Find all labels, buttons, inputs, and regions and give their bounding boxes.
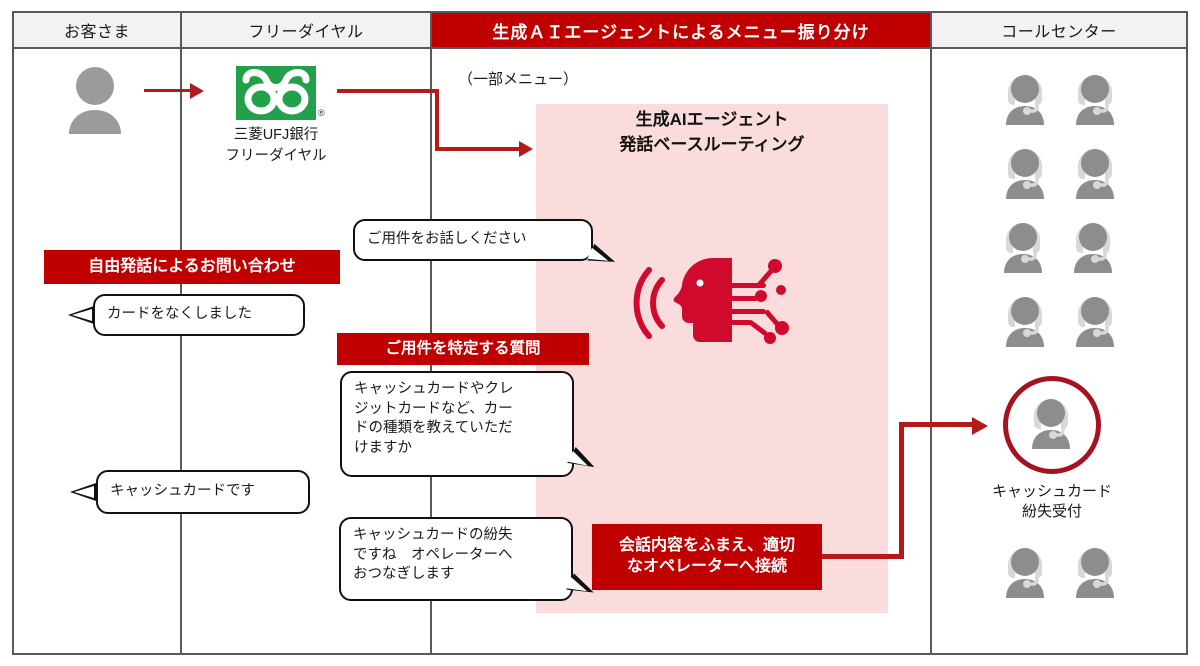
arrow-freedial-head <box>519 141 533 157</box>
highlighted-operator-icon <box>1022 392 1080 454</box>
arrow-route-seg-v <box>899 422 904 559</box>
column-header-customer: お客さま <box>14 13 180 47</box>
operator-icon <box>1066 142 1124 204</box>
bubble-customer-cash-card-text: キャッシュカードです <box>110 482 255 502</box>
arrow-customer-to-freedial-head <box>190 83 204 99</box>
column-header-ai-routing: 生成ＡＩエージェントによるメニュー振り分け <box>432 13 930 47</box>
operator-icon <box>1066 290 1124 352</box>
freedial-caption-line2: フリーダイヤル <box>196 146 356 167</box>
highlighted-operator-caption: キャッシュカード 紛失受付 <box>962 482 1142 523</box>
freedial-caption-line1: 三菱UFJ銀行 <box>196 125 356 146</box>
label-route-to-operator-line1: 会話内容をふまえ、適切 <box>619 536 795 557</box>
column-header-freedial: フリーダイヤル <box>182 13 430 47</box>
bubble-agent-card-type-line3: ドの種類を教えていただ <box>354 419 514 439</box>
arrow-route-seg-h2 <box>899 422 977 427</box>
bubble-agent-card-type-line4: けますか <box>354 439 514 459</box>
partial-menu-note: （一部メニュー） <box>458 70 578 90</box>
label-route-to-operator-line2: なオペレーターへ接続 <box>627 557 787 578</box>
operator-icon <box>994 216 1052 278</box>
operator-icon <box>996 541 1054 603</box>
bubble-customer-lost-card-tail-fill <box>72 309 92 321</box>
operator-icon <box>1066 541 1124 603</box>
bubble-agent-prompt-text: ご用件をお話しください <box>367 230 527 250</box>
bubble-customer-cash-card: キャッシュカードです <box>96 470 310 514</box>
arrow-freedial-seg-h2 <box>435 147 523 151</box>
diagram-canvas: お客さま フリーダイヤル 生成ＡＩエージェントによるメニュー振り分け コールセン… <box>0 0 1200 666</box>
bubble-customer-cash-card-tail-fill <box>74 486 94 498</box>
bubble-customer-lost-card-text: カードをなくしました <box>107 305 252 325</box>
column-divider-3 <box>930 11 932 655</box>
ai-agent-title-line1: 生成AIエージェント <box>540 108 884 133</box>
bubble-agent-prompt: ご用件をお話しください <box>353 219 593 261</box>
bubble-agent-transfer: キャッシュカードの紛失 ですね オペレーターへ おつなぎします <box>339 517 573 601</box>
ai-head-voice-icon <box>630 250 790 350</box>
column-header-callcenter: コールセンター <box>932 13 1186 47</box>
header-divider <box>12 47 1188 49</box>
ai-agent-title-line2: 発話ベースルーティング <box>540 133 884 158</box>
operator-icon <box>1066 68 1124 130</box>
arrow-freedial-seg-h1 <box>337 89 439 93</box>
arrow-freedial-seg-v <box>435 89 439 151</box>
freedial-glyph-icon <box>236 66 316 120</box>
arrow-route-head <box>972 417 988 435</box>
freedial-registered-mark: ® <box>318 108 325 118</box>
highlighted-operator-caption-line2: 紛失受付 <box>962 502 1142 522</box>
customer-avatar-icon <box>62 64 128 136</box>
arrow-route-seg-h1 <box>822 554 904 559</box>
bubble-agent-transfer-line3: おつなぎします <box>353 565 513 585</box>
freedial-logo <box>236 66 316 120</box>
label-identify-question: ご用件を特定する質問 <box>337 333 589 365</box>
label-free-speech-inquiry: 自由発話によるお問い合わせ <box>44 250 340 284</box>
label-route-to-operator: 会話内容をふまえ、適切 なオペレーターへ接続 <box>592 524 822 590</box>
bubble-agent-transfer-line2: ですね オペレーターへ <box>353 546 513 566</box>
bubble-agent-card-type-line2: ジットカードなど、カー <box>354 400 514 420</box>
operator-icon <box>996 290 1054 352</box>
bubble-agent-card-type-line1: キャッシュカードやクレ <box>354 380 514 400</box>
bubble-agent-card-type: キャッシュカードやクレ ジットカードなど、カー ドの種類を教えていただ けますか <box>340 371 574 477</box>
highlighted-operator-caption-line1: キャッシュカード <box>962 482 1142 502</box>
bubble-agent-transfer-line1: キャッシュカードの紛失 <box>353 526 513 546</box>
arrow-customer-to-freedial-line <box>144 89 192 92</box>
operator-icon <box>996 68 1054 130</box>
bubble-customer-lost-card: カードをなくしました <box>93 294 305 336</box>
operator-icon <box>996 142 1054 204</box>
ai-agent-title: 生成AIエージェント 発話ベースルーティング <box>540 108 884 157</box>
freedial-caption: 三菱UFJ銀行 フリーダイヤル <box>196 125 356 167</box>
operator-icon <box>1064 216 1122 278</box>
